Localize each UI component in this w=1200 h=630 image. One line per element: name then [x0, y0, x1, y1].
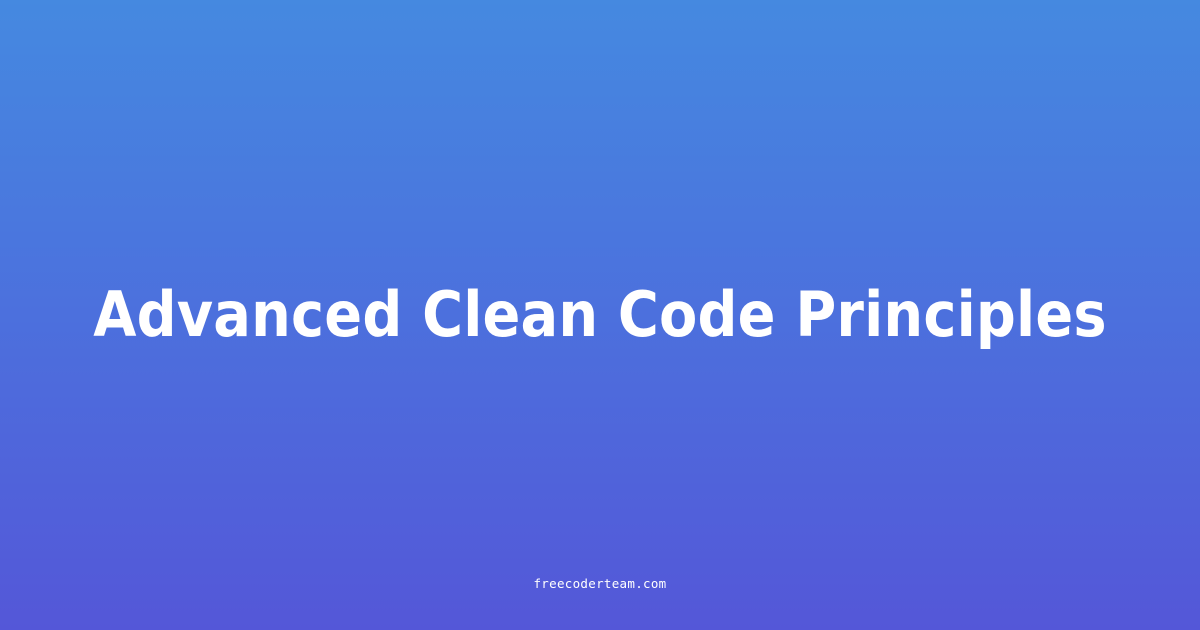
- footer-block: freecoderteam.com: [0, 578, 1200, 591]
- og-card: Advanced Clean Code Principles freecoder…: [0, 0, 1200, 630]
- page-title: Advanced Clean Code Principles: [60, 280, 1140, 349]
- title-block: Advanced Clean Code Principles: [0, 0, 1200, 630]
- site-watermark: freecoderteam.com: [533, 578, 666, 591]
